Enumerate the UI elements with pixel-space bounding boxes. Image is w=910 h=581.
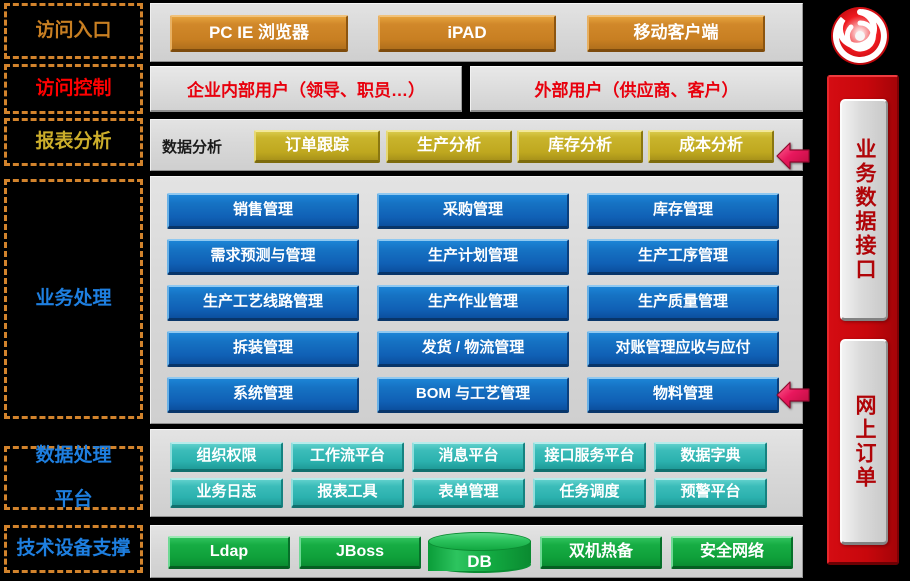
vertical-button-business-data-interface[interactable]: 业务数据接口 bbox=[840, 99, 888, 321]
report-analysis-panel: 数据分析 订单跟踪 生产分析 库存分析 成本分析 bbox=[150, 119, 803, 171]
button-label: 双机热备 bbox=[569, 543, 633, 561]
button-label: 成本分析 bbox=[679, 137, 743, 155]
connector-arrow-top bbox=[776, 139, 810, 173]
sidebar-label-line1: 数据处理 bbox=[35, 445, 111, 467]
business-button-bom-craft[interactable]: BOM 与工艺管理 bbox=[377, 377, 569, 413]
button-label: 订单跟踪 bbox=[285, 137, 349, 155]
platform-button-org-permission[interactable]: 组织权限 bbox=[170, 442, 283, 472]
analysis-button-order-tracking[interactable]: 订单跟踪 bbox=[254, 130, 380, 163]
business-button-material-mgmt[interactable]: 物料管理 bbox=[587, 377, 779, 413]
business-processing-panel: 销售管理 需求预测与管理 生产工艺线路管理 拆装管理 系统管理 采购管理 生产计… bbox=[150, 176, 803, 424]
button-label: 生产工序管理 bbox=[638, 248, 728, 265]
business-button-purchase-mgmt[interactable]: 采购管理 bbox=[377, 193, 569, 229]
button-label: 库存管理 bbox=[653, 202, 713, 219]
button-label: Ldap bbox=[210, 543, 248, 561]
button-label: 业务日志 bbox=[196, 484, 256, 501]
sidebar-label-text: 业务处理 bbox=[35, 288, 111, 310]
tech-support-panel: Ldap JBoss DB 双机热备 安全网络 bbox=[150, 525, 803, 578]
platform-button-alert[interactable]: 预警平台 bbox=[654, 478, 767, 508]
sidebar-label-line2: 平台 bbox=[35, 489, 111, 511]
button-label: 报表工具 bbox=[317, 484, 377, 501]
business-button-production-plan[interactable]: 生产计划管理 bbox=[377, 239, 569, 275]
sidebar-label-text: 数据处理 平台 bbox=[35, 445, 111, 511]
button-label: 移动客户端 bbox=[634, 24, 719, 43]
button-label: 采购管理 bbox=[443, 202, 503, 219]
connector-arrow-bottom bbox=[776, 378, 810, 412]
button-label: 数据字典 bbox=[680, 448, 740, 465]
tech-button-secure-network[interactable]: 安全网络 bbox=[671, 536, 793, 569]
button-label: 生产质量管理 bbox=[638, 294, 728, 311]
button-label: 销售管理 bbox=[233, 202, 293, 219]
platform-button-form-mgmt[interactable]: 表单管理 bbox=[412, 478, 525, 508]
db-label: DB bbox=[428, 552, 531, 572]
tech-button-ldap[interactable]: Ldap bbox=[168, 536, 290, 569]
access-control-internal-users[interactable]: 企业内部用户（领导、职员…） bbox=[150, 66, 462, 112]
data-platform-panel: 组织权限 工作流平台 消息平台 接口服务平台 数据字典 业务日志 报表工具 表单… bbox=[150, 429, 803, 517]
platform-button-data-dictionary[interactable]: 数据字典 bbox=[654, 442, 767, 472]
sidebar-item-tech-support[interactable]: 技术设备支撑 bbox=[4, 525, 143, 573]
diagram-root: 访问入口 访问控制 报表分析 业务处理 数据处理 平台 技术设备支撑 PC IE… bbox=[0, 0, 910, 581]
button-label: 发货 / 物流管理 bbox=[422, 340, 525, 357]
tech-button-jboss[interactable]: JBoss bbox=[299, 536, 421, 569]
button-label: PC IE 浏览器 bbox=[209, 24, 309, 43]
business-button-sales-mgmt[interactable]: 销售管理 bbox=[167, 193, 359, 229]
business-button-production-quality[interactable]: 生产质量管理 bbox=[587, 285, 779, 321]
button-label: JBoss bbox=[336, 543, 384, 561]
business-button-assembly-mgmt[interactable]: 拆装管理 bbox=[167, 331, 359, 367]
platform-button-workflow[interactable]: 工作流平台 bbox=[291, 442, 404, 472]
button-label: 组织权限 bbox=[196, 448, 256, 465]
button-label: 拆装管理 bbox=[233, 340, 293, 357]
access-entry-button-ipad[interactable]: iPAD bbox=[378, 15, 556, 52]
button-label: 对账管理应收与应付 bbox=[615, 340, 750, 357]
button-label: 生产计划管理 bbox=[428, 248, 518, 265]
database-cylinder-icon[interactable]: DB bbox=[428, 532, 531, 574]
label-text: 数据分析 bbox=[162, 136, 222, 157]
analysis-button-inventory[interactable]: 库存分析 bbox=[517, 130, 643, 163]
access-entry-button-mobile[interactable]: 移动客户端 bbox=[587, 15, 765, 52]
business-button-reconciliation[interactable]: 对账管理应收与应付 bbox=[587, 331, 779, 367]
user-label: 企业内部用户（领导、职员…） bbox=[187, 76, 425, 101]
business-button-shipping-logistics[interactable]: 发货 / 物流管理 bbox=[377, 331, 569, 367]
spiral-logo bbox=[824, 2, 896, 72]
sidebar-label-text: 访问入口 bbox=[35, 20, 111, 42]
access-control-external-users[interactable]: 外部用户（供应商、客户） bbox=[470, 66, 803, 112]
button-label: 物料管理 bbox=[653, 386, 713, 403]
button-label: 生产作业管理 bbox=[428, 294, 518, 311]
button-label: 库存分析 bbox=[548, 137, 612, 155]
platform-button-api-service[interactable]: 接口服务平台 bbox=[533, 442, 646, 472]
button-label: 系统管理 bbox=[233, 386, 293, 403]
access-entry-button-pc-ie[interactable]: PC IE 浏览器 bbox=[170, 15, 348, 52]
sidebar-item-report-analysis[interactable]: 报表分析 bbox=[4, 118, 143, 166]
analysis-button-production[interactable]: 生产分析 bbox=[386, 130, 512, 163]
sidebar-item-data-platform[interactable]: 数据处理 平台 bbox=[4, 446, 143, 510]
button-label: 工作流平台 bbox=[310, 448, 385, 465]
button-label: 预警平台 bbox=[680, 484, 740, 501]
sidebar-item-business-processing[interactable]: 业务处理 bbox=[4, 179, 143, 419]
business-button-inventory-mgmt[interactable]: 库存管理 bbox=[587, 193, 779, 229]
tech-button-dual-hot-standby[interactable]: 双机热备 bbox=[540, 536, 662, 569]
access-entry-panel: PC IE 浏览器 iPAD 移动客户端 bbox=[150, 3, 803, 62]
platform-button-task-schedule[interactable]: 任务调度 bbox=[533, 478, 646, 508]
button-label: 网上订单 bbox=[849, 394, 879, 490]
button-label: 任务调度 bbox=[559, 484, 619, 501]
right-red-panel: 业务数据接口 网上订单 bbox=[827, 75, 899, 565]
analysis-button-cost[interactable]: 成本分析 bbox=[648, 130, 774, 163]
button-label: 接口服务平台 bbox=[544, 448, 634, 465]
business-button-system-mgmt[interactable]: 系统管理 bbox=[167, 377, 359, 413]
button-label: 安全网络 bbox=[700, 543, 764, 561]
button-label: 业务数据接口 bbox=[849, 138, 879, 282]
button-label: 表单管理 bbox=[438, 484, 498, 501]
platform-button-business-log[interactable]: 业务日志 bbox=[170, 478, 283, 508]
sidebar-label-text: 报表分析 bbox=[35, 131, 111, 153]
user-label: 外部用户（供应商、客户） bbox=[535, 76, 739, 101]
platform-button-message[interactable]: 消息平台 bbox=[412, 442, 525, 472]
sidebar-label-text: 访问控制 bbox=[35, 78, 111, 100]
data-analysis-label: 数据分析 bbox=[162, 120, 222, 172]
sidebar-item-access-entry[interactable]: 访问入口 bbox=[4, 3, 143, 59]
button-label: 生产分析 bbox=[417, 137, 481, 155]
sidebar-item-access-control[interactable]: 访问控制 bbox=[4, 64, 143, 114]
db-top bbox=[428, 532, 531, 551]
button-label: 需求预测与管理 bbox=[210, 248, 315, 265]
platform-button-report-tool[interactable]: 报表工具 bbox=[291, 478, 404, 508]
sidebar-label-text: 技术设备支撑 bbox=[16, 538, 130, 560]
button-label: BOM 与工艺管理 bbox=[416, 386, 530, 403]
vertical-button-online-order[interactable]: 网上订单 bbox=[840, 339, 888, 545]
business-button-production-ops[interactable]: 生产作业管理 bbox=[377, 285, 569, 321]
business-button-demand-forecast[interactable]: 需求预测与管理 bbox=[167, 239, 359, 275]
business-button-production-process[interactable]: 生产工序管理 bbox=[587, 239, 779, 275]
button-label: 消息平台 bbox=[438, 448, 498, 465]
business-button-process-route[interactable]: 生产工艺线路管理 bbox=[167, 285, 359, 321]
button-label: iPAD bbox=[447, 24, 486, 43]
button-label: 生产工艺线路管理 bbox=[203, 294, 323, 311]
